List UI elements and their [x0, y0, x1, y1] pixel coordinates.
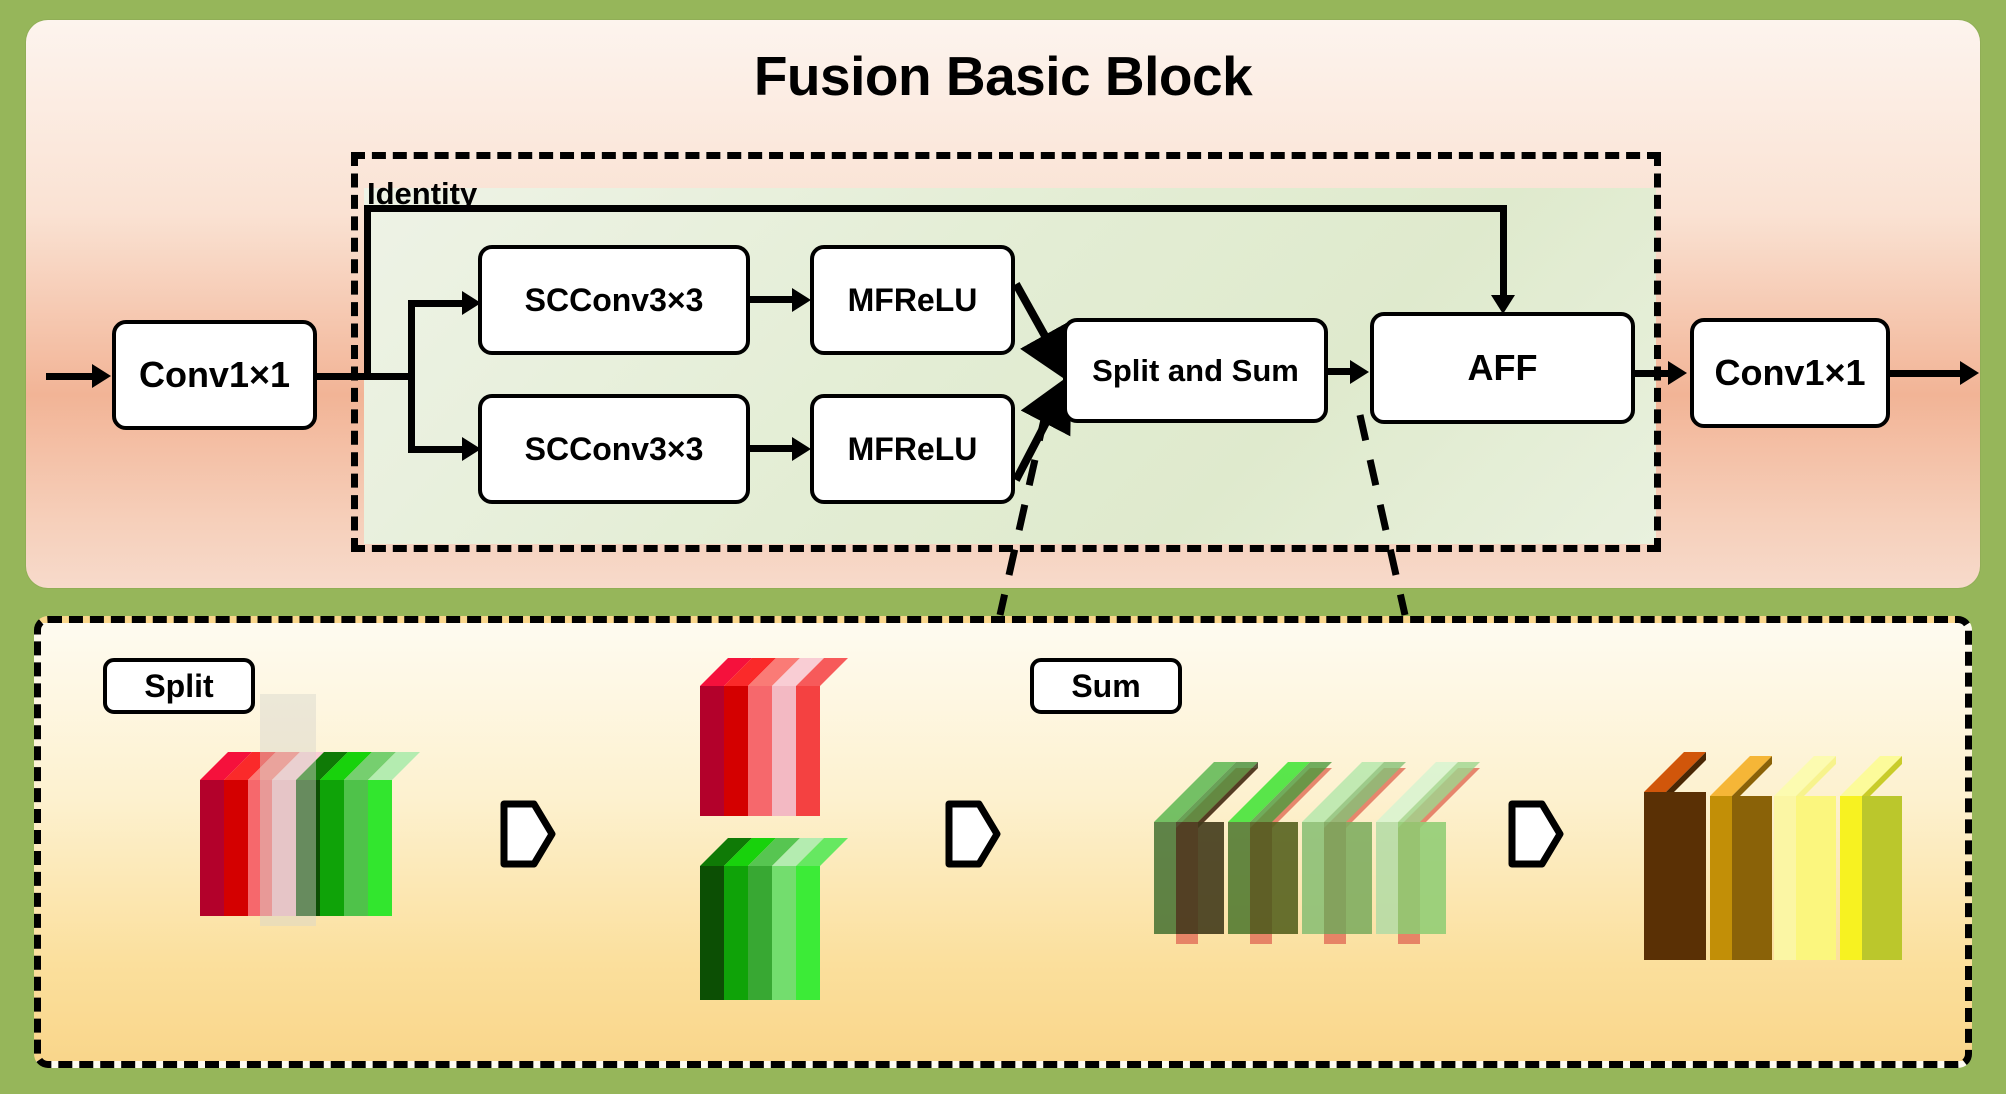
fused-slab-1 — [1644, 752, 1706, 960]
node-scconv-bottom[interactable]: SCConv3×3 — [478, 394, 750, 504]
fused-slab-3 — [1774, 756, 1836, 960]
node-scconv-top[interactable]: SCConv3×3 — [478, 245, 750, 355]
top-branch-line — [408, 300, 468, 307]
scconv-bottom-out-line — [750, 445, 798, 452]
identity-skip-vertical-left — [364, 205, 371, 373]
output-arrowhead — [1960, 361, 1979, 385]
scconv-top-out-arrowhead — [792, 288, 811, 312]
fused-slab-4 — [1840, 756, 1902, 960]
identity-skip-vertical-right — [1500, 205, 1507, 300]
node-conv-out[interactable]: Conv1×1 — [1690, 318, 1890, 428]
node-conv-in-label: Conv1×1 — [139, 354, 290, 396]
split-result-two-stacks — [690, 640, 850, 1040]
chevron-arrow-3 — [1508, 800, 1564, 868]
splitsum-to-aff-arrowhead — [1350, 360, 1369, 384]
node-scconv-bottom-label: SCConv3×3 — [525, 431, 704, 468]
identity-skip-join — [364, 373, 415, 380]
aff-out-arrowhead — [1668, 361, 1687, 385]
node-mfrelu-top-label: MFReLU — [848, 282, 978, 319]
bottom-branch-line — [408, 446, 468, 453]
node-conv-out-label: Conv1×1 — [1714, 352, 1865, 394]
node-conv-in[interactable]: Conv1×1 — [112, 320, 317, 430]
identity-label: Identity — [367, 176, 477, 212]
sum-tag-label: Sum — [1071, 668, 1140, 705]
split-cut-plane — [260, 694, 316, 926]
identity-skip-horizontal — [364, 205, 1507, 212]
chevron-arrow-2 — [945, 800, 1001, 868]
split-tag: Split — [103, 658, 255, 714]
output-line — [1890, 370, 1965, 377]
split-input-feature-stack — [190, 730, 420, 960]
scconv-bottom-out-arrowhead — [792, 437, 811, 461]
fused-output-stack — [1640, 710, 1940, 960]
input-arrowhead — [92, 364, 111, 388]
node-aff-label: AFF — [1468, 347, 1538, 389]
summed-overlapped-stack — [1140, 720, 1460, 970]
page-title: Fusion Basic Block — [26, 44, 1980, 108]
split-green-stack — [700, 838, 848, 1000]
chevron-arrow-1 — [500, 800, 556, 868]
node-mfrelu-top[interactable]: MFReLU — [810, 245, 1015, 355]
node-mfrelu-bottom[interactable]: MFReLU — [810, 394, 1015, 504]
node-mfrelu-bottom-label: MFReLU — [848, 431, 978, 468]
sum-tag: Sum — [1030, 658, 1182, 714]
node-split-and-sum-label: Split and Sum — [1092, 353, 1299, 389]
split-tag-label: Split — [144, 668, 213, 705]
callout-dashed-lines — [1000, 400, 1450, 630]
fused-slab-2 — [1710, 756, 1772, 960]
figure-root: Fusion Basic Block Identity Conv1×1 SCCo… — [0, 0, 2006, 1094]
split-red-stack — [700, 658, 848, 816]
node-scconv-top-label: SCConv3×3 — [525, 282, 704, 319]
scconv-top-out-line — [750, 296, 798, 303]
input-line — [46, 373, 94, 380]
